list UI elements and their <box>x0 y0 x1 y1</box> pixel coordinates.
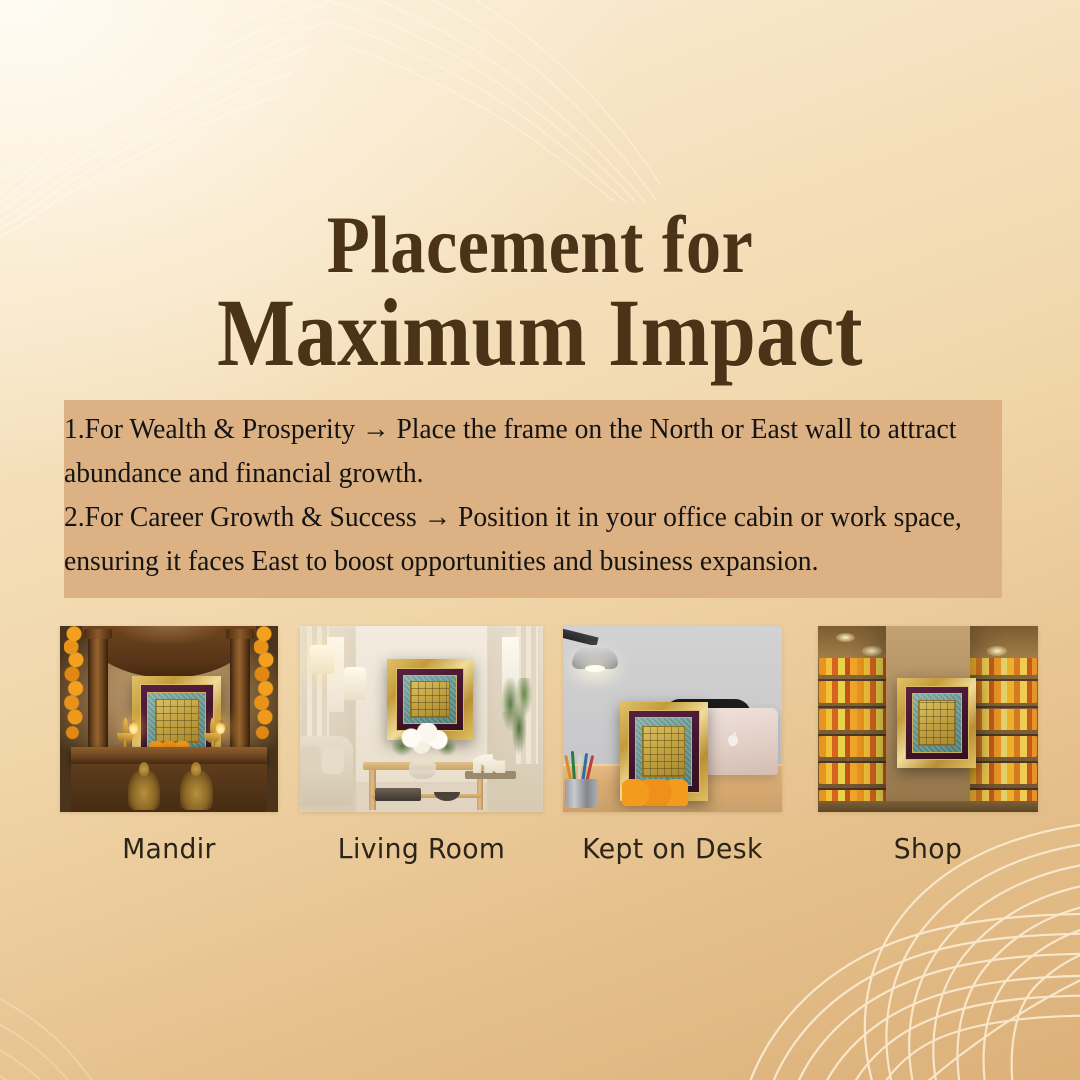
title-line-2: Maximum Impact <box>76 287 1005 379</box>
leaf-line-art-bottom-left-icon <box>0 910 210 1080</box>
placement-image-mandir <box>60 626 278 812</box>
placement-image-desk <box>563 626 782 812</box>
placement-caption-living-room: Living Room <box>306 832 537 865</box>
instruction-paragraph-2: 2.For Career Growth & Success → Position… <box>64 495 976 583</box>
page-title: Placement for Maximum Impact <box>0 206 1080 379</box>
instructions-band: 1.For Wealth & Prosperity → Place the fr… <box>64 400 1002 598</box>
framed-yantra <box>897 678 976 768</box>
placement-image-living-room <box>300 626 543 812</box>
placement-image-shop <box>818 626 1038 812</box>
placement-card-desk[interactable]: Kept on Desk <box>563 626 782 812</box>
placement-caption-desk: Kept on Desk <box>568 832 776 865</box>
feather-line-art-top-left-icon <box>0 0 360 240</box>
placement-card-shop[interactable]: Shop <box>818 626 1038 812</box>
title-line-1: Placement for <box>76 206 1005 285</box>
feather-line-art-top-center-icon <box>300 0 680 202</box>
placement-caption-mandir: Mandir <box>65 832 272 865</box>
placement-card-living-room[interactable]: Living Room <box>300 626 543 812</box>
instruction-paragraph-1: 1.For Wealth & Prosperity → Place the fr… <box>64 407 976 495</box>
placement-card-mandir[interactable]: Mandir <box>60 626 278 812</box>
placement-gallery: Mandir <box>0 626 1080 876</box>
placement-caption-shop: Shop <box>824 832 1033 865</box>
poster-canvas: Placement for Maximum Impact 1.For Wealt… <box>0 0 1080 1080</box>
